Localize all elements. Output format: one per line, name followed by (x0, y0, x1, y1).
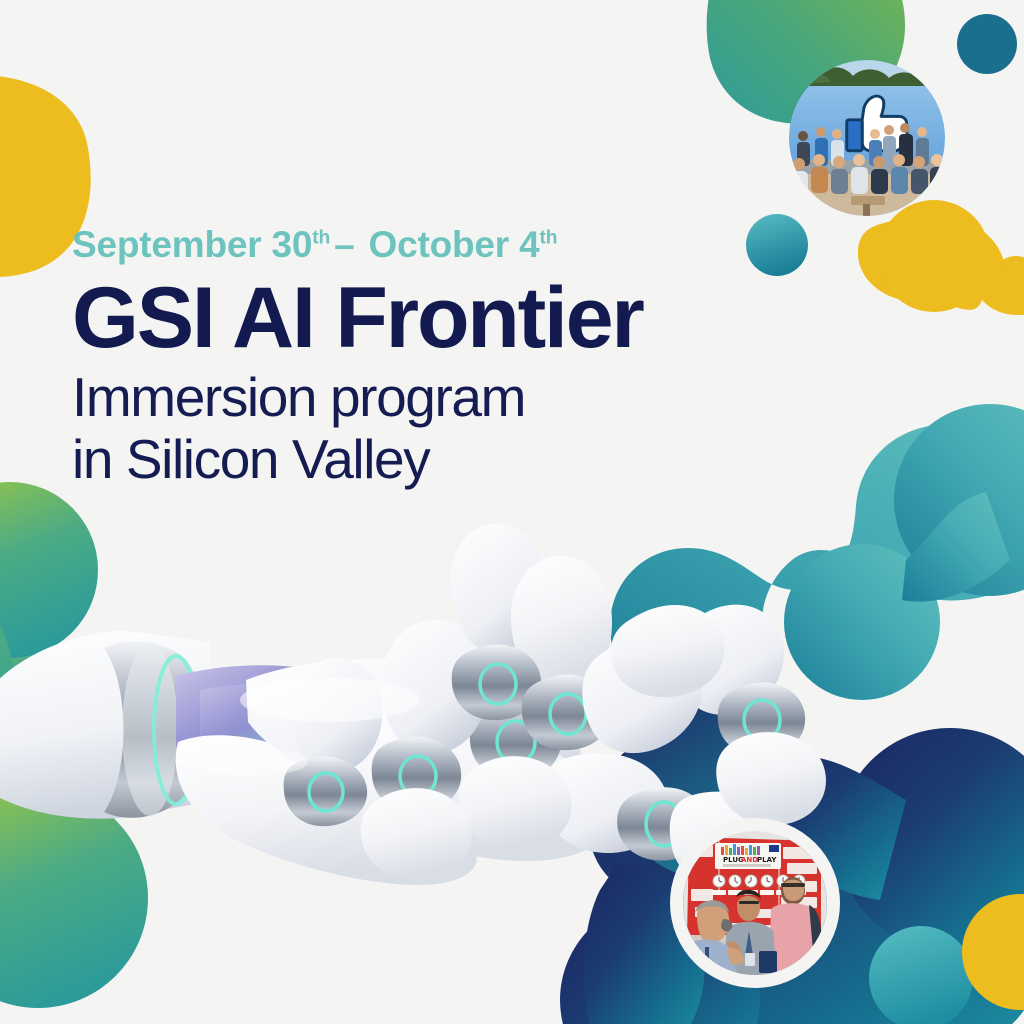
start-day: 30 (272, 224, 313, 265)
end-month: October (369, 224, 509, 265)
subtitle-line-2: in Silicon Valley (72, 429, 752, 491)
group-photo-facebook-thumbs-up (789, 60, 945, 216)
start-month: September (72, 224, 261, 265)
svg-text:AND: AND (741, 856, 758, 864)
photo-plug-and-play-networking: PLUG AND PLAY (683, 831, 827, 975)
svg-text:PLAY: PLAY (757, 856, 777, 864)
start-ordinal: th (312, 228, 330, 249)
poster-canvas: PLUG AND PLAY (0, 0, 1024, 1024)
subtitle: Immersion program in Silicon Valley (72, 367, 752, 490)
end-day: 4 (519, 224, 539, 265)
subtitle-line-1: Immersion program (72, 367, 752, 429)
event-dates: September 30th– October 4th (72, 226, 752, 263)
end-ordinal: th (540, 228, 558, 249)
date-separator: – (330, 224, 358, 265)
poster-text-block: September 30th– October 4th GSI AI Front… (72, 226, 752, 490)
page-title: GSI AI Frontier (72, 275, 752, 361)
